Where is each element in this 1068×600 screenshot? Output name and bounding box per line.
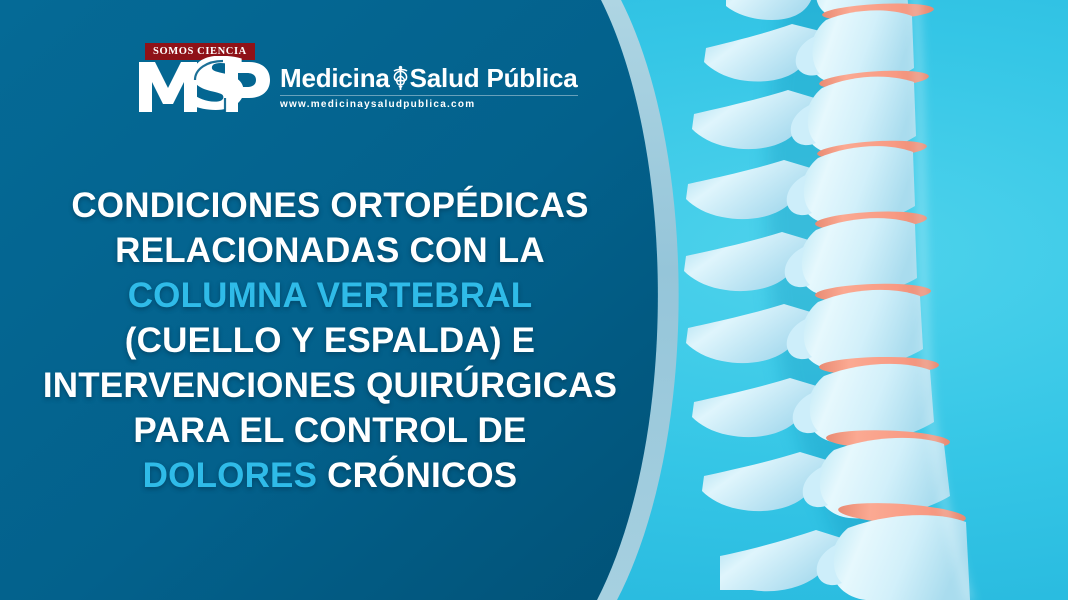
headline-line-1: CONDICIONES ORTOPÉDICAS — [0, 183, 660, 228]
headline-line-3: COLUMNA VERTEBRAL — [0, 273, 660, 318]
headline-line-2: RELACIONADAS CON LA — [0, 228, 660, 273]
brand-logo[interactable]: SOMOS CIENCIA Medicina — [137, 44, 578, 114]
headline-line-5: INTERVENCIONES QUIRÚRGICAS — [0, 363, 660, 408]
caduceus-icon — [392, 65, 409, 92]
wordmark-divider — [280, 95, 578, 96]
brand-title-row: Medicina Salud Pública — [280, 64, 578, 92]
headline-accent-word: DOLORES — [143, 456, 317, 495]
page-title: CONDICIONES ORTOPÉDICAS RELACIONADAS CON… — [0, 183, 660, 498]
msp-letters-icon — [137, 56, 270, 114]
spine-illustration — [640, 0, 1068, 600]
headline-line-6: PARA EL CONTROL DE — [0, 408, 660, 453]
brand-title-right: Salud Pública — [410, 64, 578, 92]
brand-wordmark: Medicina Salud Pública www.m — [280, 64, 578, 114]
headline-line-7: DOLORES CRÓNICOS — [0, 453, 660, 498]
headline-plain-word: CRÓNICOS — [327, 456, 517, 495]
headline-line-4: (CUELLO Y ESPALDA) E — [0, 318, 660, 363]
brand-website-url: www.medicinaysaludpublica.com — [280, 99, 578, 110]
brand-title-left: Medicina — [280, 64, 390, 92]
poster-canvas: SOMOS CIENCIA Medicina — [0, 0, 1068, 600]
msp-monogram-mark: SOMOS CIENCIA — [137, 44, 270, 114]
